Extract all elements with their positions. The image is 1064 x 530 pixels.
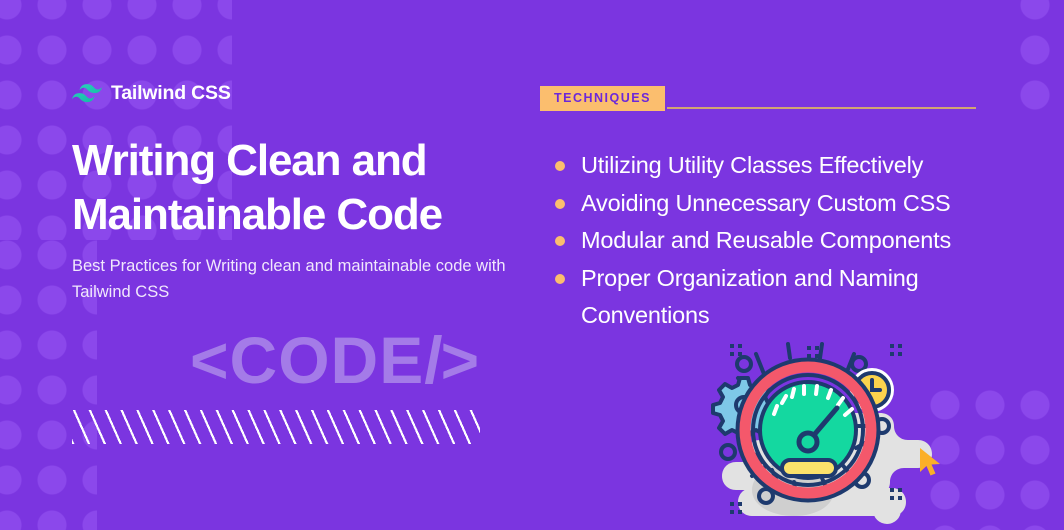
code-tag-close: /> bbox=[424, 323, 477, 397]
techniques-header: TECHNIQUES bbox=[540, 86, 976, 111]
list-item: Modular and Reusable Components bbox=[543, 222, 1013, 260]
bullet-dot-icon bbox=[555, 199, 565, 209]
left-column: Tailwind CSS Writing Clean and Maintaina… bbox=[72, 0, 542, 530]
list-item-label: Utilizing Utility Classes Effectively bbox=[581, 152, 923, 178]
banner-root: Tailwind CSS Writing Clean and Maintaina… bbox=[0, 0, 1064, 530]
diagonal-hatch-decoration bbox=[72, 410, 480, 444]
dot-pattern-right-top bbox=[1020, 0, 1064, 110]
list-item-label: Proper Organization and Naming Conventio… bbox=[581, 265, 919, 329]
code-tag-open: <CODE bbox=[190, 323, 424, 397]
gauge bbox=[738, 360, 878, 500]
bullet-dot-icon bbox=[555, 236, 565, 246]
list-item-label: Modular and Reusable Components bbox=[581, 227, 951, 253]
list-item: Utilizing Utility Classes Effectively bbox=[543, 147, 1013, 185]
page-subtitle: Best Practices for Writing clean and mai… bbox=[72, 253, 524, 305]
performance-gauge-illustration bbox=[704, 330, 934, 530]
techniques-divider-rule bbox=[667, 107, 976, 109]
code-tag-graphic: <CODE/> bbox=[190, 327, 477, 393]
techniques-badge: TECHNIQUES bbox=[540, 86, 665, 111]
bullet-dot-icon bbox=[555, 161, 565, 171]
page-title: Writing Clean and Maintainable Code bbox=[72, 134, 522, 242]
mouse-pointer bbox=[918, 446, 944, 480]
list-item: Avoiding Unnecessary Custom CSS bbox=[543, 185, 1013, 223]
brand-logo: Tailwind CSS bbox=[72, 82, 231, 105]
list-item: Proper Organization and Naming Conventio… bbox=[543, 260, 1013, 335]
list-item-label: Avoiding Unnecessary Custom CSS bbox=[581, 190, 951, 216]
bullet-dot-icon bbox=[555, 274, 565, 284]
tailwind-wave-icon bbox=[72, 84, 102, 103]
brand-name: Tailwind CSS bbox=[111, 82, 231, 105]
techniques-list: Utilizing Utility Classes EffectivelyAvo… bbox=[543, 147, 1013, 335]
